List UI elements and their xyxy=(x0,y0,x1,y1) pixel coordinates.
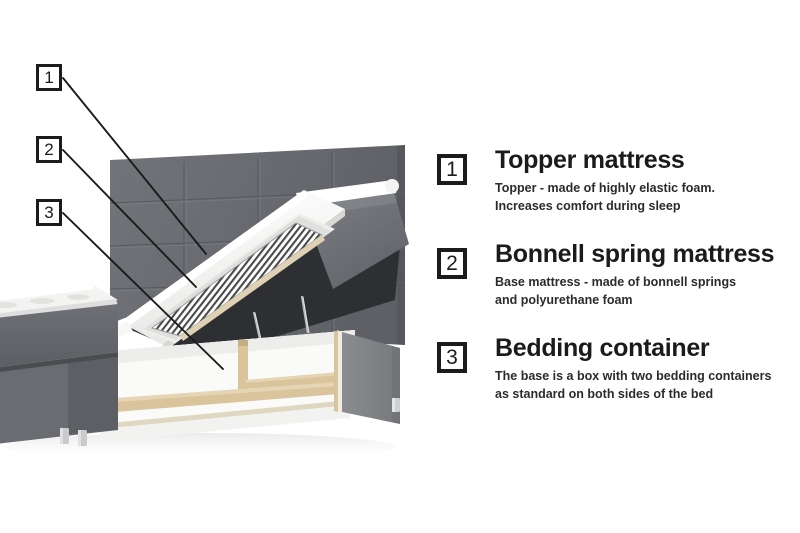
legend-title-2: Bonnell spring mattress xyxy=(495,241,793,267)
bed-illustration xyxy=(0,0,430,533)
infographic-page: 1 2 3 1 Topper mattress Topper - made of… xyxy=(0,0,800,533)
legend-number-2: 2 xyxy=(437,248,467,279)
legend-number-3: 3 xyxy=(437,342,467,373)
callout-number-1[interactable]: 1 xyxy=(36,64,62,91)
legend-description-3-line1: The base is a box with two bedding conta… xyxy=(495,368,793,386)
legend-title-3: Bedding container xyxy=(495,335,793,361)
legend-description-1: Topper - made of highly elastic foam. In… xyxy=(495,180,793,216)
legend-description-2: Base mattress - made of bonnell springs … xyxy=(495,274,793,310)
legend-description-2-line2: and polyurethane foam xyxy=(495,292,793,310)
legend-title-1: Topper mattress xyxy=(495,147,793,173)
legend-description-2-line1: Base mattress - made of bonnell springs xyxy=(495,274,793,292)
legend-number-1: 1 xyxy=(437,154,467,185)
legend-item-bonnell-spring-mattress: 2 Bonnell spring mattress Base mattress … xyxy=(437,241,793,310)
legend-description-3-line2: as standard on both sides of the bed xyxy=(495,386,793,404)
legend-list: 1 Topper mattress Topper - made of highl… xyxy=(437,147,793,428)
bedding-container xyxy=(98,330,400,442)
callout-number-2[interactable]: 2 xyxy=(36,136,62,163)
legend-description-3: The base is a box with two bedding conta… xyxy=(495,368,793,404)
legend-item-bedding-container: 3 Bedding container The base is a box wi… xyxy=(437,335,793,404)
legend-description-1-line1: Topper - made of highly elastic foam. xyxy=(495,180,793,198)
legend-item-topper-mattress: 1 Topper mattress Topper - made of highl… xyxy=(437,147,793,216)
left-bed-section xyxy=(0,284,118,448)
callout-number-3[interactable]: 3 xyxy=(36,199,62,226)
legend-description-1-line2: Increases comfort during sleep xyxy=(495,198,793,216)
container-front-panel xyxy=(342,332,400,424)
